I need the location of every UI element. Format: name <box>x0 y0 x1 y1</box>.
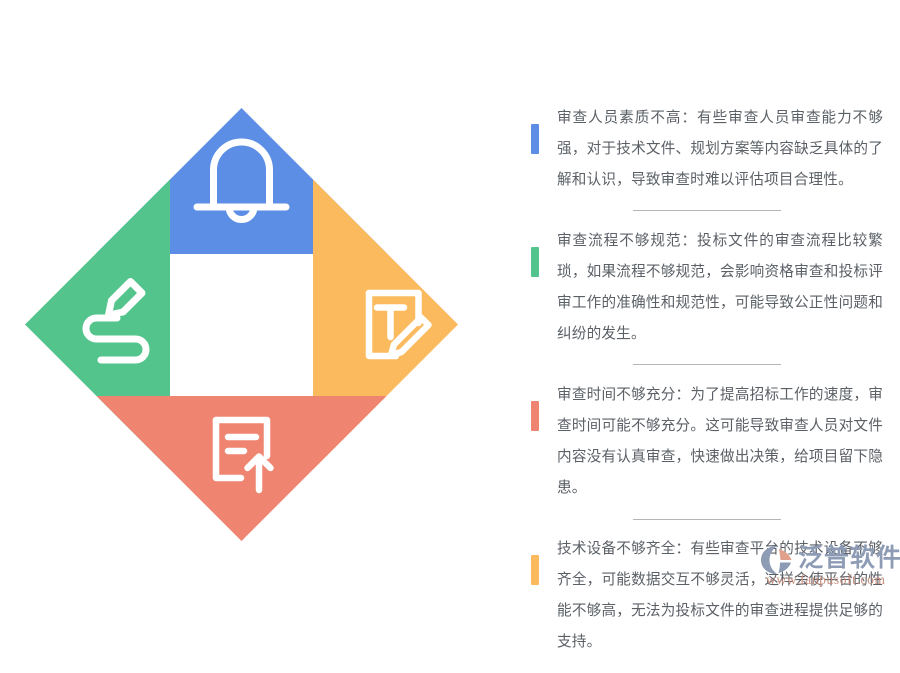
brand-name: 泛普软件 <box>798 543 900 573</box>
issue-accent-bar-1 <box>531 124 539 154</box>
issue-item-1: 审查人员素质不高：有些审查人员审查能力不够强，对于技术文件、规划方案等内容缺乏具… <box>531 103 883 196</box>
quadrant-bottom[interactable] <box>97 396 387 541</box>
diamond-center-square <box>170 254 313 396</box>
issue-accent-bar-4 <box>531 555 539 585</box>
issue-item-3: 审查时间不够充分：为了提高招标工作的速度，审查时间可能不够充分。这可能导致审查人… <box>531 380 883 504</box>
issue-text-2: 审查流程不够规范：投标文件的审查流程比较繁琐，如果流程不够规范，会影响资格审查和… <box>557 226 883 350</box>
issue-divider-1 <box>633 210 781 211</box>
four-quadrant-diamond-diagram <box>25 108 458 541</box>
issue-divider-2 <box>633 364 781 365</box>
issue-accent-bar-2 <box>531 247 539 277</box>
issue-item-2: 审查流程不够规范：投标文件的审查流程比较繁琐，如果流程不够规范，会影响资格审查和… <box>531 226 883 350</box>
issue-divider-3 <box>633 519 781 520</box>
issue-text-3: 审查时间不够充分：为了提高招标工作的速度，审查时间可能不够充分。这可能导致审查人… <box>557 380 883 504</box>
issue-text-1: 审查人员素质不高：有些审查人员审查能力不够强，对于技术文件、规划方案等内容缺乏具… <box>557 103 883 196</box>
brand-url: www.fanpusoft.com <box>766 572 886 588</box>
brand-logo: 泛普软件 www.fanpusoft.com <box>760 543 890 591</box>
fanpu-logo-mark-icon <box>760 545 794 575</box>
issue-accent-bar-3 <box>531 401 539 431</box>
